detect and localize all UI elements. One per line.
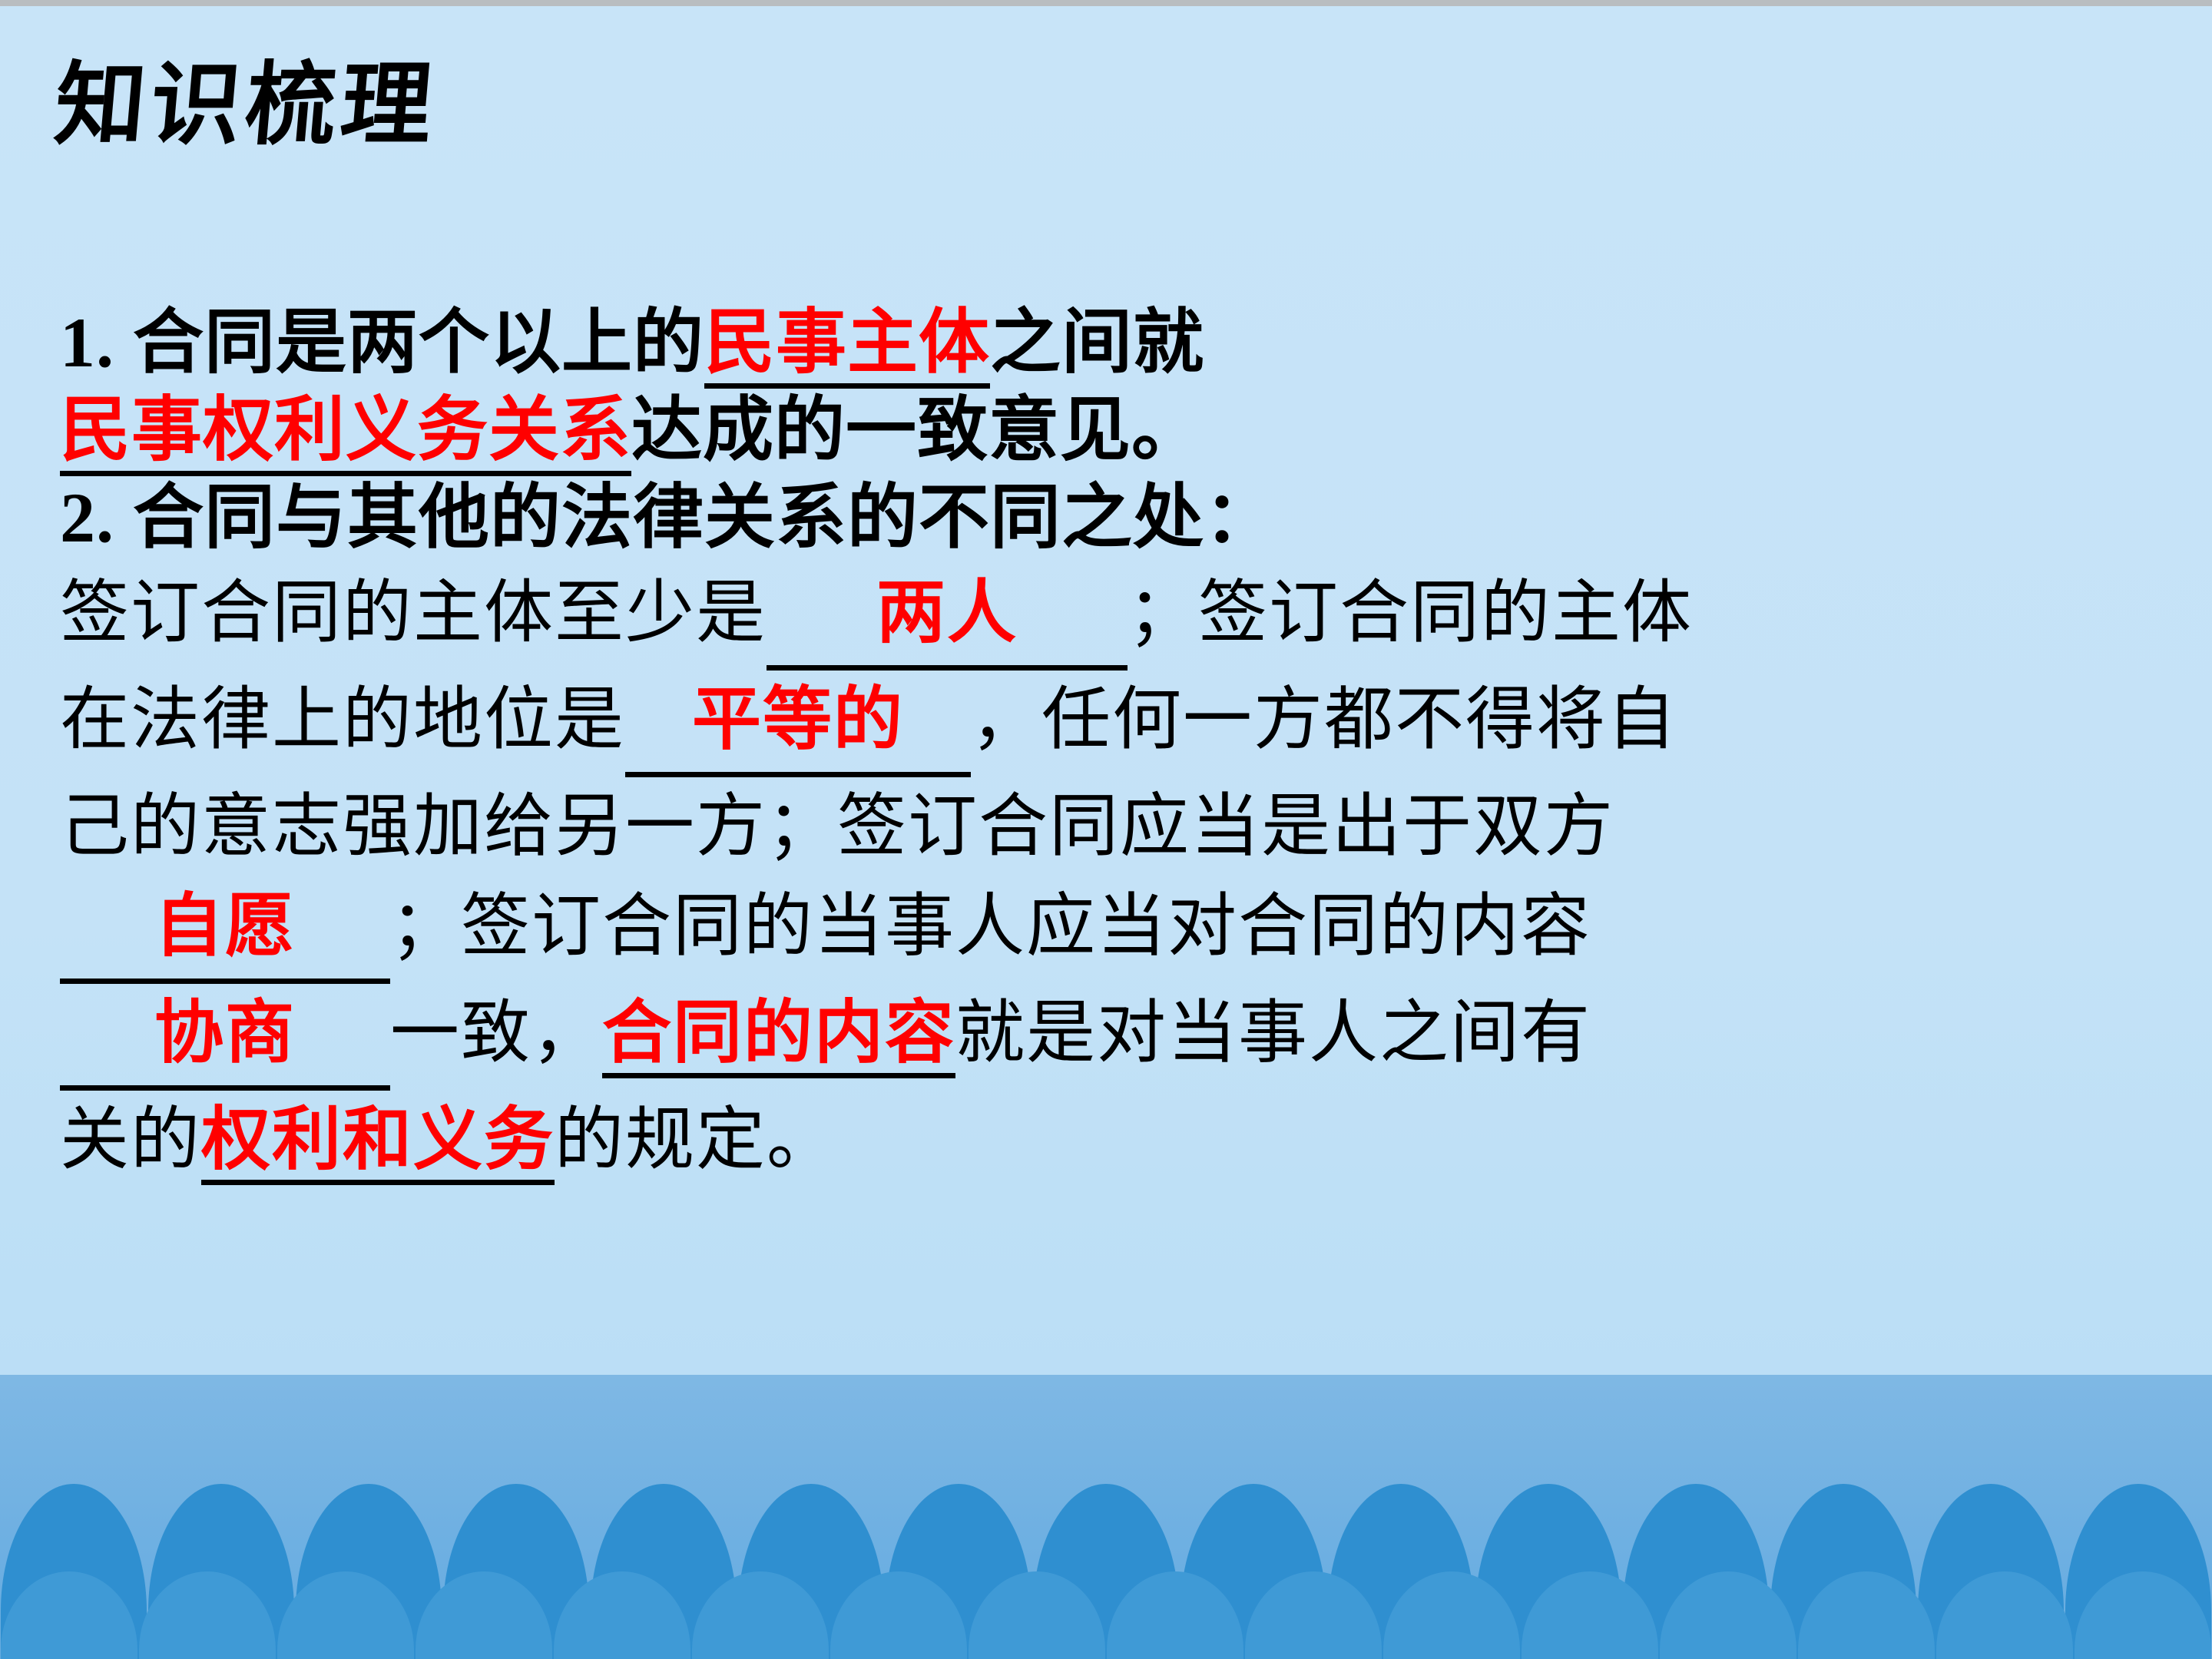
item2-heading: 合同与其他的法律关系的不同之处： bbox=[133, 478, 1276, 557]
item2-line1-text-a: 签订合同的主体至少是 bbox=[60, 575, 767, 651]
slide-content: 知识梳理 1. 合同是两个以上的民事主体之间就 民事权利义务关系达成的一致意见。… bbox=[0, 0, 2212, 1659]
slide-canvas: 知识梳理 1. 合同是两个以上的民事主体之间就 民事权利义务关系达成的一致意见。… bbox=[0, 0, 2212, 1659]
page-title: 知识梳理 bbox=[51, 60, 440, 151]
item2-line6-text-a: 关的 bbox=[60, 1102, 201, 1178]
item1-number: 1. bbox=[60, 303, 114, 382]
item1-answer-b: 民事权利义务关系 bbox=[60, 391, 631, 476]
item2-answer-3: 自愿 bbox=[154, 889, 296, 965]
item2-number: 2. bbox=[60, 478, 114, 557]
item2-line5-text-c: 就是对当事人之间有 bbox=[955, 995, 1591, 1071]
item1-text-b: 之间就 bbox=[990, 303, 1204, 382]
item2-answer-1: 两人 bbox=[876, 575, 1018, 651]
item2-answer-5: 合同的内容 bbox=[602, 995, 955, 1078]
item2-blank-3: 自愿 bbox=[60, 877, 390, 984]
item1-line1: 1. 合同是两个以上的民事主体之间就 bbox=[60, 301, 2180, 384]
item2-blank-2: 平等的 bbox=[625, 671, 971, 777]
item2-line3: 己的意志强加给另一方；签订合同应当是出于双方 bbox=[60, 777, 2180, 877]
item2-line3-text: 己的意志强加给另一方；签订合同应当是出于双方 bbox=[60, 789, 1614, 865]
item2-line1-text-b: ；签订合同的主体 bbox=[1128, 575, 1693, 651]
item2-answer-6: 权利和义务 bbox=[201, 1102, 555, 1185]
item2-line4: 自愿；签订合同的当事人应当对合同的内容 bbox=[60, 877, 2180, 984]
item2-heading-line: 2. 合同与其他的法律关系的不同之处： bbox=[60, 476, 2180, 559]
item1-text-c: 达成的一致意见。 bbox=[631, 391, 1203, 469]
item2-line5-text-b: 一致， bbox=[390, 995, 602, 1071]
item2-line6: 关的权利和义务的规定。 bbox=[60, 1091, 2180, 1190]
item1-line2: 民事权利义务关系达成的一致意见。 bbox=[60, 389, 2180, 472]
item2-line6-text-b: 的规定。 bbox=[555, 1102, 837, 1178]
item1-answer-a: 民事主体 bbox=[704, 303, 990, 389]
item2-blank-4: 协商 bbox=[60, 984, 390, 1091]
item2-line1: 签订合同的主体至少是两人；签订合同的主体 bbox=[60, 564, 2180, 671]
item2-blank-1: 两人 bbox=[767, 564, 1128, 671]
item2-line2-text-b: ，任何一方都不得将自 bbox=[971, 682, 1677, 758]
item2-line5: 协商一致，合同的内容就是对当事人之间有 bbox=[60, 984, 2180, 1091]
item1-text-a: 合同是两个以上的 bbox=[133, 303, 704, 382]
item2-line4-text-b: ；签订合同的当事人应当对合同的内容 bbox=[390, 889, 1591, 965]
item2-line2-text-a: 在法律上的地位是 bbox=[60, 682, 625, 758]
item2-answer-4: 协商 bbox=[154, 995, 296, 1071]
item2-answer-2: 平等的 bbox=[692, 682, 904, 758]
body-text-block: 1. 合同是两个以上的民事主体之间就 民事权利义务关系达成的一致意见。 2. 合… bbox=[60, 301, 2180, 1190]
item2-line2: 在法律上的地位是平等的，任何一方都不得将自 bbox=[60, 671, 2180, 777]
